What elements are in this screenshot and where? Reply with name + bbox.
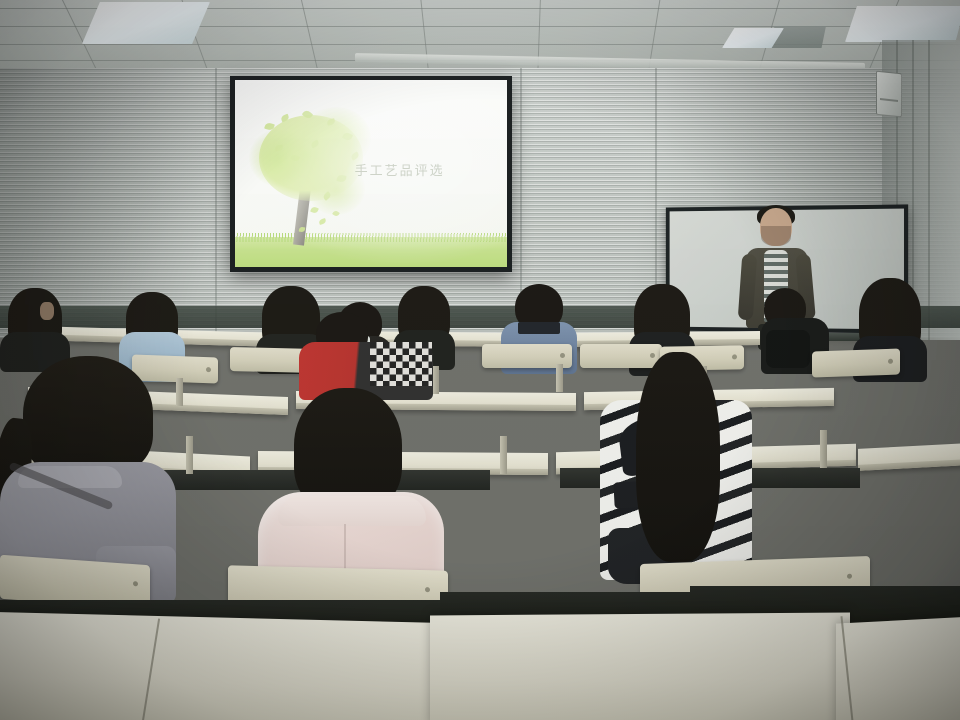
wall-speaker-icon (876, 71, 902, 118)
desk-front-left (0, 612, 490, 720)
student-pattern-coat (566, 352, 766, 592)
classroom-photo: 手工艺品评选 (0, 0, 960, 720)
slide-title: 手工艺品评选 (355, 160, 445, 179)
ceiling-light-left (82, 2, 210, 44)
desk-front-center (430, 613, 850, 720)
ceiling-light-right (845, 6, 960, 42)
ceiling (0, 0, 960, 74)
student-blue-jacket (118, 292, 186, 362)
screen-frame: 手工艺品评选 (230, 76, 512, 272)
projection-screen: 手工艺品评选 (230, 76, 512, 272)
presentation-slide: 手工艺品评选 (235, 80, 507, 267)
chair-row3-g (812, 348, 900, 377)
student-back-left (0, 288, 70, 358)
desk-front-right (836, 616, 960, 720)
desk-row2-far-right (858, 443, 960, 471)
